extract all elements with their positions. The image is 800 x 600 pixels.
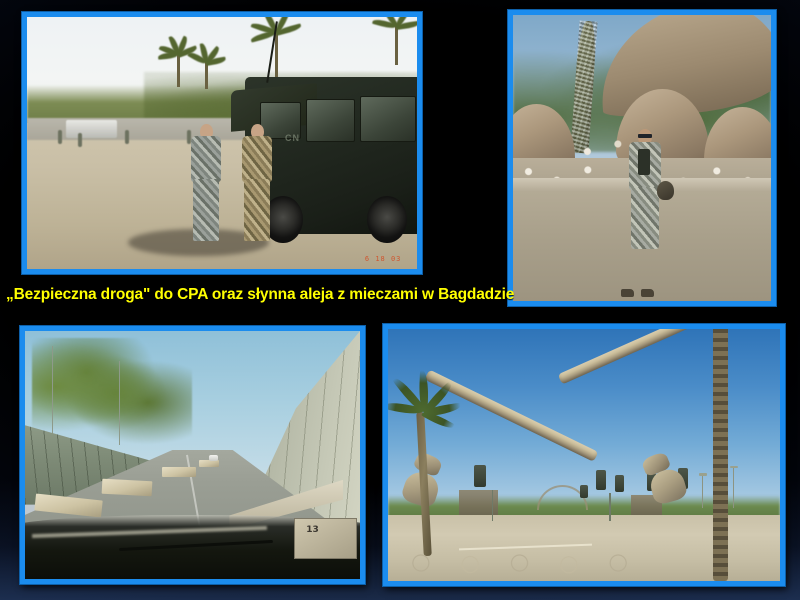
humvee-window: [360, 96, 416, 142]
sunglasses: [638, 134, 652, 138]
razor-wire: [388, 548, 662, 578]
flag-column-pole: [609, 493, 611, 521]
legs: [193, 179, 219, 241]
photo-soldiers-humvee-image: CN 6 18 03: [27, 17, 417, 269]
torso: [242, 136, 272, 182]
road-barrier: [199, 460, 219, 467]
photo-swords-of-qadisiyah-image: [388, 329, 780, 581]
tactical-vest: [638, 149, 650, 175]
distant-car: [209, 455, 218, 461]
humvee-window: [306, 99, 355, 142]
photo-soldiers-humvee[interactable]: CN 6 18 03: [22, 12, 422, 274]
palm-trunk: [416, 412, 432, 556]
photo-unknown-soldier-monument-image: [513, 15, 771, 301]
legs: [631, 187, 659, 249]
flag-column: [580, 485, 588, 498]
distant-figure: [78, 133, 82, 147]
road-barrier: [162, 467, 196, 477]
palm-tree-right: [698, 329, 749, 581]
palm-trunk: [713, 329, 728, 581]
photo-blast-wall-road-image: 13: [25, 331, 360, 579]
humvee-wheel: [367, 196, 406, 243]
helmet-in-hand: [657, 181, 674, 200]
slide-caption: „Bezpieczna droga" do CPA oraz słynna al…: [6, 286, 514, 304]
date-stamp: 6 18 03: [365, 255, 402, 263]
soldier-figure: [619, 129, 671, 295]
photo-unknown-soldier-monument[interactable]: [508, 10, 776, 306]
photo-blast-wall-road[interactable]: 13: [20, 326, 365, 584]
flag-column-pole: [492, 490, 494, 520]
slide-canvas: CN 6 18 03: [0, 0, 800, 600]
torso: [191, 136, 221, 182]
legs: [244, 179, 270, 241]
distant-figure: [58, 130, 62, 144]
concrete-sign: 13: [294, 518, 356, 560]
flag-column: [596, 470, 606, 490]
flag-column: [474, 465, 486, 487]
photo-swords-of-qadisiyah[interactable]: [383, 324, 785, 586]
utility-pole: [119, 361, 121, 445]
road-barrier: [102, 478, 153, 495]
distant-vehicle: [66, 120, 117, 138]
distant-figure: [125, 130, 129, 144]
boot: [641, 289, 654, 297]
palm-tree-left: [392, 344, 459, 556]
flag-column: [615, 475, 624, 492]
boot: [621, 289, 634, 297]
concrete-sign-text: 13: [306, 525, 319, 535]
soldier-figure: [222, 124, 292, 254]
